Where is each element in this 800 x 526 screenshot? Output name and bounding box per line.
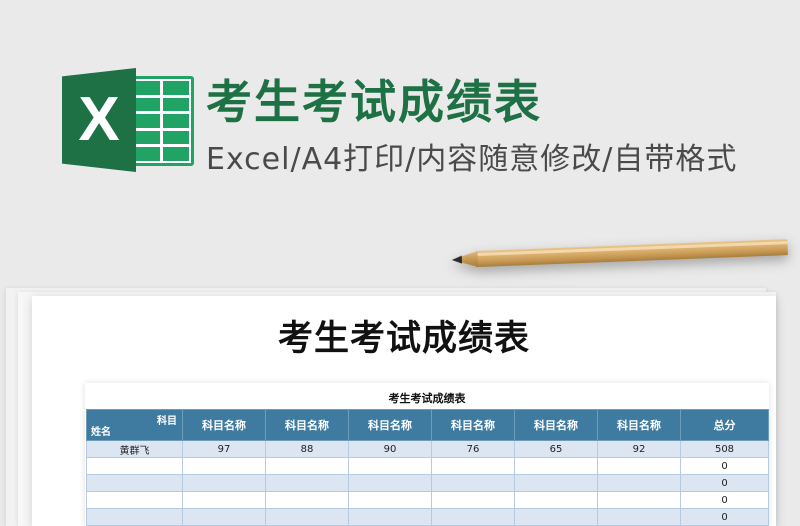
cell-score[interactable]: 76: [432, 441, 515, 458]
cell-score[interactable]: [432, 475, 515, 492]
cell-score[interactable]: 97: [183, 441, 266, 458]
cell-score[interactable]: [349, 475, 432, 492]
cell-score[interactable]: [515, 458, 598, 475]
cell-score[interactable]: 92: [598, 441, 681, 458]
table-row: 0: [87, 492, 769, 509]
excel-logo-letter: X: [62, 68, 136, 172]
header-col-1: 科目名称: [183, 410, 266, 441]
document-title: 考生考试成绩表: [32, 310, 776, 361]
header-col-6: 科目名称: [598, 410, 681, 441]
table-row: 黄群飞 97 88 90 76 65 92 508: [87, 441, 769, 458]
cell-score[interactable]: [183, 475, 266, 492]
cell-total: 0: [681, 458, 769, 475]
cell-name[interactable]: [87, 509, 183, 526]
paper-sheet-front: 考生考试成绩表 考生考试成绩表 科目 姓名 科目名称 科目名称 科目名称 科目名…: [32, 296, 776, 526]
cell-name[interactable]: [87, 492, 183, 509]
grade-table: 科目 姓名 科目名称 科目名称 科目名称 科目名称 科目名称 科目名称 总分 黄…: [86, 409, 769, 526]
cell-score[interactable]: [183, 458, 266, 475]
banner-subtitle: Excel/A4打印/内容随意修改/自带格式: [206, 134, 737, 178]
cell-name[interactable]: [87, 458, 183, 475]
cell-total: 0: [681, 475, 769, 492]
spreadsheet-card: 考生考试成绩表 科目 姓名 科目名称 科目名称 科目名称 科目名称 科目名称 科: [85, 383, 769, 526]
header-subject-label: 科目: [157, 412, 177, 427]
excel-logo-grid: [133, 81, 189, 161]
cell-total: 508: [681, 441, 769, 458]
header-name-label: 姓名: [91, 423, 111, 438]
cell-score[interactable]: [515, 492, 598, 509]
cell-score[interactable]: [432, 509, 515, 526]
header-col-3: 科目名称: [349, 410, 432, 441]
header-col-4: 科目名称: [432, 410, 515, 441]
table-header-row: 科目 姓名 科目名称 科目名称 科目名称 科目名称 科目名称 科目名称 总分: [87, 410, 769, 441]
cell-score[interactable]: [515, 475, 598, 492]
cell-score[interactable]: [266, 492, 349, 509]
header-col-total: 总分: [681, 410, 769, 441]
cell-score[interactable]: [349, 509, 432, 526]
cell-score[interactable]: [183, 492, 266, 509]
cell-total: 0: [681, 492, 769, 509]
cell-score[interactable]: [598, 475, 681, 492]
banner-title: 考生考试成绩表: [206, 66, 542, 132]
cell-name[interactable]: [87, 475, 183, 492]
table-row: 0: [87, 509, 769, 526]
header-col-2: 科目名称: [266, 410, 349, 441]
cell-score[interactable]: [266, 458, 349, 475]
cell-score[interactable]: [266, 509, 349, 526]
cell-score[interactable]: [598, 492, 681, 509]
pencil-tip-lead: [452, 256, 462, 264]
cell-score[interactable]: 88: [266, 441, 349, 458]
cell-score[interactable]: [266, 475, 349, 492]
cell-score[interactable]: [515, 509, 598, 526]
hero-banner: X 考生考试成绩表 Excel/A4打印/内容随意修改/自带格式: [0, 0, 800, 270]
cell-score[interactable]: [349, 458, 432, 475]
cell-score[interactable]: [183, 509, 266, 526]
cell-score[interactable]: [432, 458, 515, 475]
cell-score[interactable]: [432, 492, 515, 509]
cell-score[interactable]: 65: [515, 441, 598, 458]
excel-logo-icon: X: [62, 62, 194, 178]
cell-score[interactable]: 90: [349, 441, 432, 458]
table-row: 0: [87, 458, 769, 475]
header-col-5: 科目名称: [515, 410, 598, 441]
cell-score[interactable]: [349, 492, 432, 509]
table-row: 0: [87, 475, 769, 492]
cell-score[interactable]: [598, 509, 681, 526]
header-corner-cell: 科目 姓名: [87, 410, 183, 441]
cell-name[interactable]: 黄群飞: [87, 441, 183, 458]
cell-total: 0: [681, 509, 769, 526]
cell-score[interactable]: [598, 458, 681, 475]
spreadsheet-title: 考生考试成绩表: [85, 383, 769, 409]
